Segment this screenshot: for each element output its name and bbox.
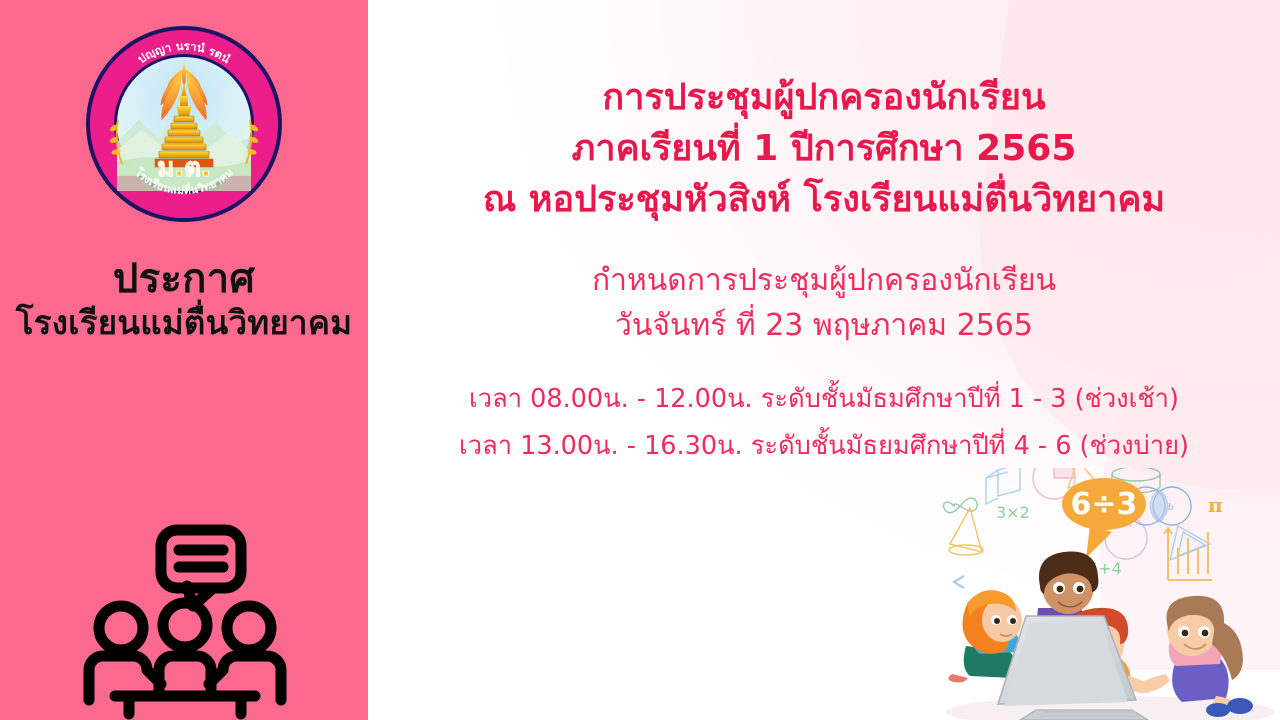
school-name-left: โรงเรียนแม่ตื่นวิทยาคม xyxy=(0,306,368,341)
svg-text:b: b xyxy=(1168,503,1174,513)
children-with-laptop-illustration: a b 3×2 5+4 π 6÷3 xyxy=(940,468,1280,720)
headline-line-1: การประชุมผู้ปกครองนักเรียน xyxy=(368,72,1280,123)
right-content-panel: การประชุมผู้ปกครองนักเรียน ภาคเรียนที่ 1… xyxy=(368,0,1280,720)
announcement-poster: ม.ต. ปญฺญา นรานํ รตนํ โรงเรียนแม่ตื่นวิท… xyxy=(0,0,1280,720)
doodle-pi: π xyxy=(1208,493,1223,517)
subhead-line-2: วันจันทร์ ที่ 23 พฤษภาคม 2565 xyxy=(368,303,1280,348)
poster-subheading: กำหนดการประชุมผู้ปกครองนักเรียน วันจันทร… xyxy=(368,258,1280,348)
school-crest-icon: ม.ต. ปญฺญา นรานํ รตนํ โรงเรียนแม่ตื่นวิท… xyxy=(84,24,284,224)
schedule-line-morning: เวลา 08.00น. - 12.00น. ระดับชั้นมัธมศึกษ… xyxy=(368,376,1280,423)
schedule-line-afternoon: เวลา 13.00น. - 16.30น. ระดับชั้นมัธยมศึก… xyxy=(368,423,1280,470)
subhead-line-1: กำหนดการประชุมผู้ปกครองนักเรียน xyxy=(368,258,1280,303)
crest-monogram: ม.ต. xyxy=(157,153,211,183)
doodle-3x2: 3×2 xyxy=(996,503,1030,522)
svg-text:6÷3: 6÷3 xyxy=(1071,487,1138,522)
headline-line-2: ภาคเรียนที่ 1 ปีการศึกษา 2565 xyxy=(368,123,1280,174)
announce-heading: ประกาศ xyxy=(0,258,368,300)
left-pink-panel: ม.ต. ปญฺญา นรานํ รตนํ โรงเรียนแม่ตื่นวิท… xyxy=(0,0,368,720)
schedule-block: เวลา 08.00น. - 12.00น. ระดับชั้นมัธมศึกษ… xyxy=(368,376,1280,470)
headline-line-3: ณ หอประชุมหัวสิงห์ โรงเรียนแม่ตื่นวิทยาค… xyxy=(368,174,1280,225)
math-speech-bubble: 6÷3 xyxy=(1062,478,1146,558)
poster-headline: การประชุมผู้ปกครองนักเรียน ภาคเรียนที่ 1… xyxy=(368,72,1280,225)
meeting-people-speech-bubble-icon xyxy=(75,520,295,720)
